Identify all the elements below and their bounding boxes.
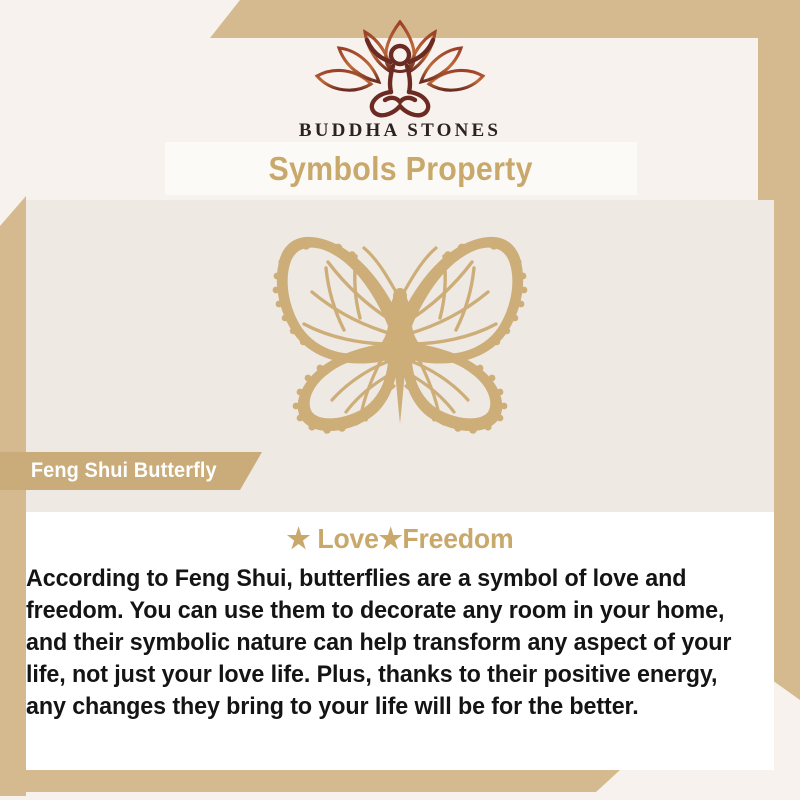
page-title: Symbols Property	[269, 150, 533, 188]
gold-band-bottom	[0, 770, 620, 792]
title-strip: Symbols Property	[165, 142, 637, 195]
feng-shui-butterfly-banner: Feng Shui Butterfly	[0, 452, 262, 490]
brand-logo: BUDDHA STONES	[0, 14, 800, 142]
banner-label: Feng Shui Butterfly	[31, 459, 217, 483]
lotus-meditation-figure-icon	[305, 14, 495, 118]
description-panel: ★ Love★Freedom According to Feng Shui, b…	[26, 512, 774, 770]
promo-banner-page: BUDDHA STONES Symbols Property	[0, 0, 800, 800]
brand-name: BUDDHA STONES	[0, 120, 800, 142]
butterfly-icon	[230, 222, 570, 442]
body-paragraph: According to Feng Shui, butterflies are …	[26, 563, 752, 723]
butterfly-illustration	[0, 222, 800, 447]
headline-love-freedom: ★ Love★Freedom	[45, 522, 756, 555]
